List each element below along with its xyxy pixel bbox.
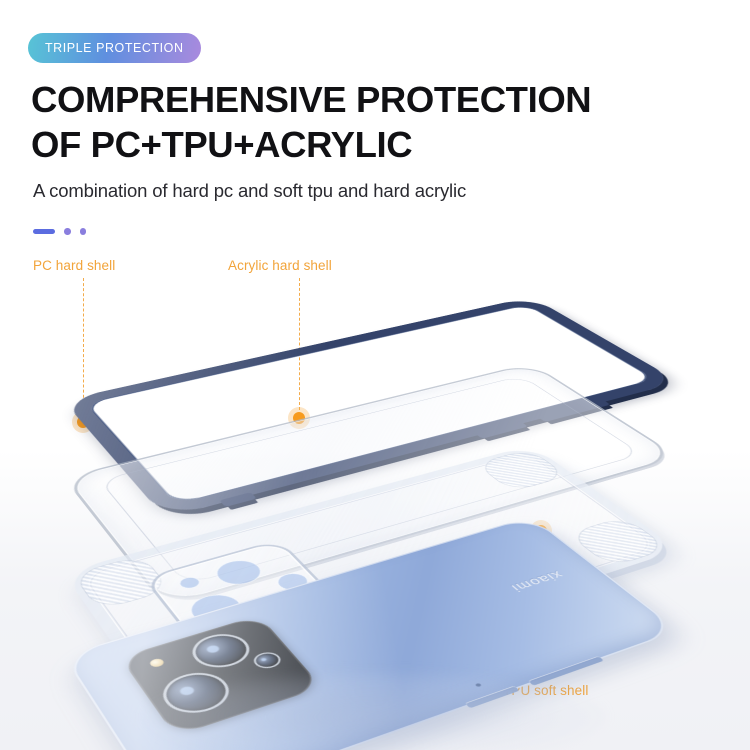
pagination-dot-2[interactable] bbox=[64, 228, 71, 235]
pagination-dot-3[interactable] bbox=[80, 228, 87, 235]
pagination-indicator[interactable] bbox=[33, 228, 86, 235]
headline-line-2: OF PC+TPU+ACRYLIC bbox=[31, 123, 721, 168]
phone-camera-module bbox=[120, 615, 323, 736]
phone-back-panel: xiaomi bbox=[63, 516, 680, 750]
product-feature-page: TRIPLE PROTECTION COMPREHENSIVE PROTECTI… bbox=[0, 0, 750, 750]
camera-lens-macro bbox=[250, 650, 285, 671]
tpu-corner-cushion-top-right bbox=[475, 449, 568, 492]
triple-protection-badge: TRIPLE PROTECTION bbox=[28, 33, 201, 63]
page-subtitle: A combination of hard pc and soft tpu an… bbox=[33, 180, 466, 202]
headline-line-1: COMPREHENSIVE PROTECTION bbox=[31, 79, 591, 120]
camera-flash-icon bbox=[148, 658, 165, 669]
layer-phone-device: xiaomi bbox=[95, 512, 655, 750]
camera-lens-main bbox=[153, 666, 239, 720]
page-title: COMPREHENSIVE PROTECTION OF PC+TPU+ACRYL… bbox=[31, 78, 721, 167]
exploded-product-view: xiaomi bbox=[0, 240, 750, 750]
pagination-active-dash[interactable] bbox=[33, 229, 55, 234]
badge-label: TRIPLE PROTECTION bbox=[45, 41, 184, 55]
phone-mic-hole-right bbox=[475, 683, 482, 687]
xiaomi-brand-logo: xiaomi bbox=[506, 568, 566, 593]
camera-lens-wide bbox=[184, 629, 259, 674]
